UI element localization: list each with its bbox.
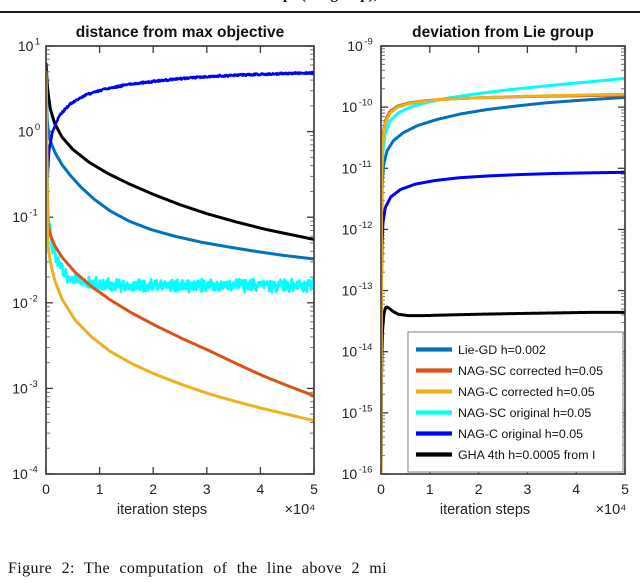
x-tick-label-left-0: 0	[42, 481, 50, 497]
y-tick-label-right-3-base: 10	[342, 221, 358, 237]
chart-left: distance from max objective10110010-110-…	[12, 24, 318, 518]
y-tick-label-right-4-exp: -13	[359, 281, 373, 292]
y-tick-label-right-7: 10-16	[342, 465, 373, 483]
curve-left-1	[46, 72, 314, 396]
x-tick-label-right-1: 1	[426, 481, 434, 497]
y-tick-label-left-5-exp: -4	[29, 465, 37, 476]
x-axis-label-left: iteration steps	[117, 502, 207, 518]
y-tick-label-right-7-exp: -16	[359, 465, 373, 476]
figure-plots: distance from max objective10110010-110-…	[0, 16, 640, 546]
y-tick-label-right-6: 10-15	[342, 403, 373, 421]
y-tick-label-right-6-exp: -15	[359, 403, 373, 414]
y-tick-label-left-3-base: 10	[12, 295, 28, 311]
y-tick-label-right-7-base: 10	[342, 466, 358, 482]
y-tick-label-right-2: 10-11	[342, 159, 372, 177]
y-tick-label-right-2-exp: -11	[359, 159, 372, 170]
y-tick-label-right-1: 10-10	[342, 98, 373, 116]
x-tick-label-right-4: 4	[572, 481, 580, 497]
y-tick-label-right-0: 10-9	[347, 37, 373, 55]
y-tick-label-left-1-exp: 0	[35, 122, 40, 133]
y-tick-label-left-0-base: 10	[18, 38, 34, 54]
y-tick-label-right-5: 10-14	[342, 342, 373, 360]
plots-svg: distance from max objective10110010-110-…	[0, 16, 640, 546]
figure-page: iteration steps (Lie group), with the di…	[0, 0, 640, 583]
y-tick-label-left-3-exp: -2	[29, 293, 37, 304]
y-tick-label-left-4: 10-3	[12, 379, 38, 397]
x-tick-label-right-2: 2	[475, 481, 483, 497]
plot-title-left: distance from max objective	[76, 24, 285, 41]
x-axis-multiplier-right: ×10⁴	[596, 502, 627, 518]
curve-left-2	[46, 72, 314, 421]
y-tick-label-left-4-base: 10	[12, 380, 28, 396]
x-tick-label-right-5: 5	[621, 481, 629, 497]
x-tick-label-left-4: 4	[257, 481, 265, 497]
curve-left-5	[46, 64, 314, 240]
x-axis-multiplier-left: ×10⁴	[285, 502, 316, 518]
y-tick-label-left-0-exp: 1	[35, 37, 40, 48]
legend-label-lie_gd: Lie-GD h=0.002	[458, 343, 546, 357]
y-tick-label-right-6-base: 10	[342, 405, 358, 421]
y-tick-label-right-0-base: 10	[347, 38, 363, 54]
x-tick-label-left-5: 5	[310, 481, 318, 497]
legend-label-nagc_orig: NAG-C original h=0.05	[458, 427, 583, 441]
curve-left-4	[46, 72, 314, 202]
y-tick-label-left-1-base: 10	[18, 124, 34, 140]
y-tick-label-right-4: 10-13	[342, 281, 373, 299]
legend-label-gha4: GHA 4th h=0.0005 from I	[458, 448, 595, 462]
legend-label-nagsc_corr: NAG-SC corrected h=0.05	[458, 364, 603, 378]
x-tick-label-left-3: 3	[203, 481, 211, 497]
chart-right: deviation from Lie group10-910-1010-1110…	[342, 24, 629, 518]
y-tick-label-right-4-base: 10	[342, 283, 358, 299]
y-tick-label-left-1: 100	[18, 122, 40, 140]
y-tick-label-right-3: 10-12	[342, 220, 373, 238]
x-tick-label-right-0: 0	[377, 481, 385, 497]
y-tick-label-left-2-exp: -1	[29, 208, 37, 219]
legend-right: Lie-GD h=0.002NAG-SC corrected h=0.05NAG…	[408, 332, 623, 472]
plot-title-right: deviation from Lie group	[412, 24, 594, 41]
y-tick-label-left-5: 10-4	[12, 465, 38, 483]
y-tick-label-left-4-exp: -3	[29, 379, 37, 390]
y-tick-label-right-5-exp: -14	[359, 342, 373, 353]
y-tick-label-right-3-exp: -12	[359, 220, 373, 231]
x-tick-label-right-3: 3	[524, 481, 532, 497]
y-tick-label-right-0-exp: -9	[364, 37, 372, 48]
y-tick-label-right-1-base: 10	[342, 99, 358, 115]
cut-off-header-label: iteration steps (Lie group), with the	[0, 0, 640, 4]
y-tick-label-left-0: 101	[18, 37, 40, 55]
y-tick-label-right-1-exp: -10	[359, 98, 373, 109]
x-tick-label-left-2: 2	[149, 481, 157, 497]
y-tick-label-right-5-base: 10	[342, 344, 358, 360]
legend-label-nagc_corr: NAG-C corrected h=0.05	[458, 385, 595, 399]
figure-caption-text: Figure 2: The computation of the line ab…	[8, 560, 632, 578]
x-tick-label-left-1: 1	[96, 481, 104, 497]
y-tick-label-right-2-base: 10	[342, 160, 358, 176]
legend-label-nagsc_orig: NAG-SC original h=0.05	[458, 406, 591, 420]
curve-left-3	[46, 72, 314, 293]
y-tick-label-left-3: 10-2	[12, 293, 38, 311]
x-axis-label-right: iteration steps	[440, 502, 530, 518]
y-tick-label-left-2-base: 10	[12, 209, 28, 225]
figure-caption: Figure 2: The computation of the line ab…	[0, 560, 640, 583]
horizontal-rule	[0, 11, 640, 13]
y-tick-label-left-5-base: 10	[12, 466, 28, 482]
y-tick-label-left-2: 10-1	[12, 208, 38, 226]
